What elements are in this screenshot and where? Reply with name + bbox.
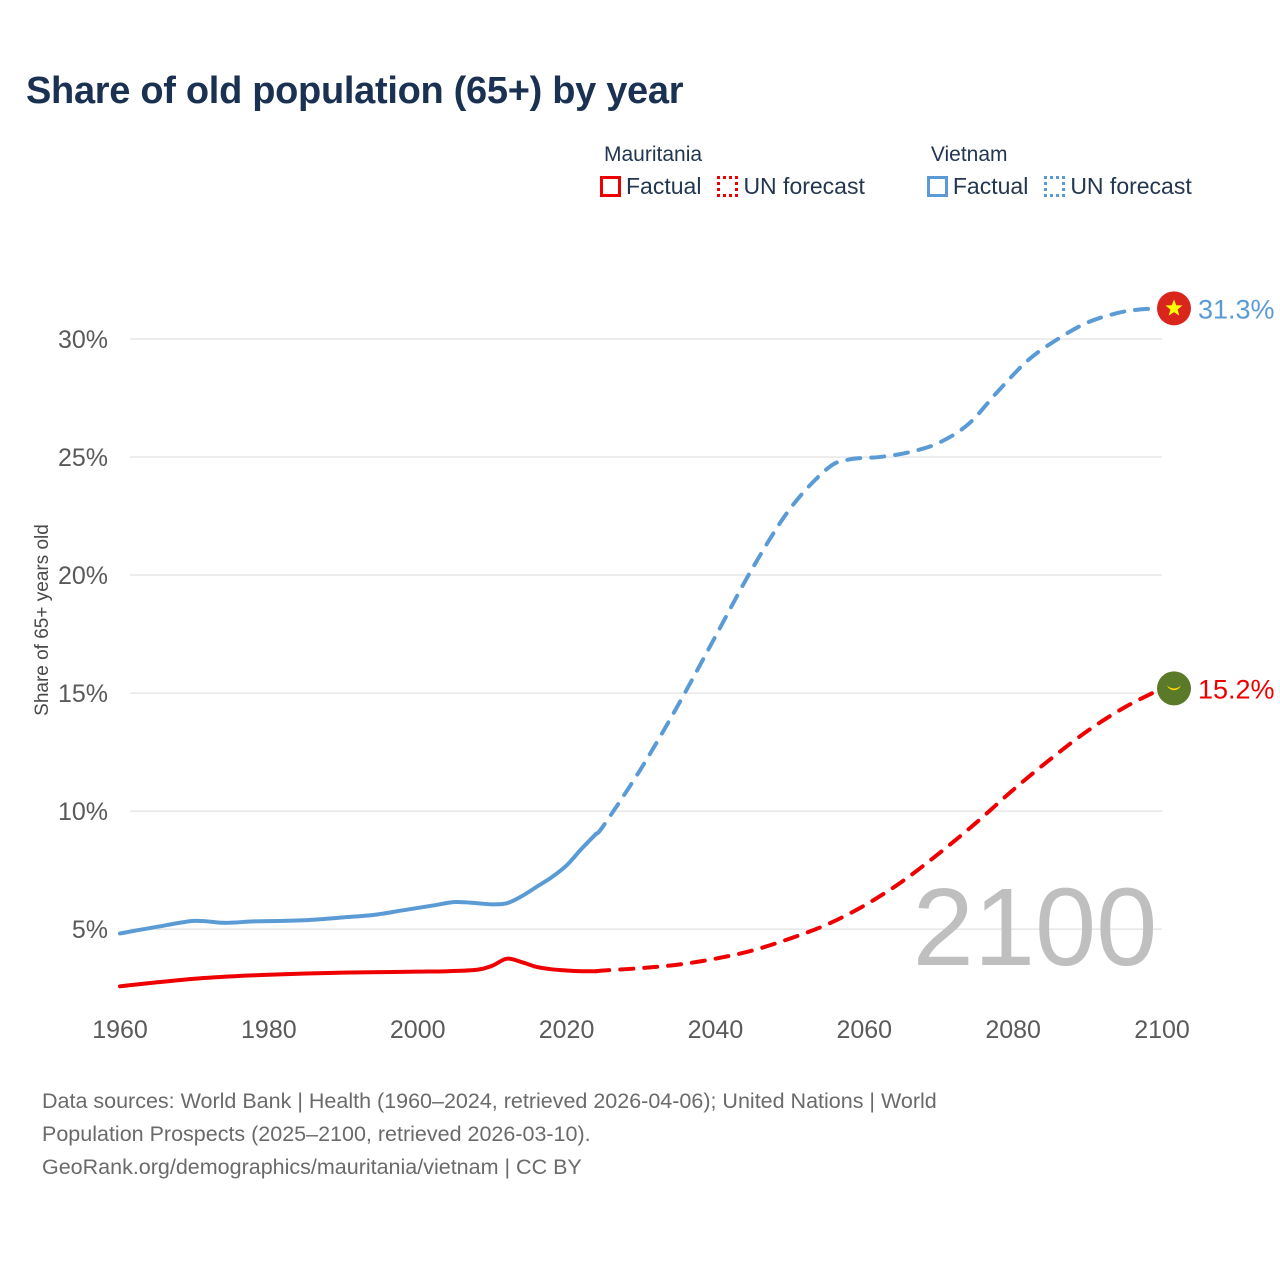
y-axis-tick-label: 5% bbox=[72, 916, 108, 944]
series-endpoints: 15.2%31.3% bbox=[1157, 291, 1275, 705]
footer-sources: Data sources: World Bank | Health (1960–… bbox=[42, 1085, 1222, 1184]
x-axis-tick-label: 1960 bbox=[92, 1016, 148, 1044]
x-axis-tick-label: 2000 bbox=[390, 1016, 446, 1044]
x-axis-tick-label: 1980 bbox=[241, 1016, 297, 1044]
x-axis-tick-label: 2020 bbox=[539, 1016, 595, 1044]
mauritania-flag-icon bbox=[1157, 671, 1191, 705]
endpoint-label-vietnam: 31.3% bbox=[1198, 294, 1275, 324]
y-axis-ticks: 5%10%15%20%25%30% bbox=[58, 326, 108, 944]
y-axis-tick-label: 25% bbox=[58, 444, 108, 472]
endpoint-marker-vietnam[interactable] bbox=[1157, 291, 1191, 325]
series-line-factual-vietnam bbox=[120, 834, 596, 934]
footer-line-1: Data sources: World Bank | Health (1960–… bbox=[42, 1085, 1222, 1118]
footer-line-2: Population Prospects (2025–2100, retriev… bbox=[42, 1118, 1222, 1151]
year-watermark: 2100 bbox=[913, 866, 1158, 989]
chart-page: Share of old population (65+) by year Ma… bbox=[0, 0, 1280, 1280]
endpoint-marker-mauritania[interactable] bbox=[1157, 671, 1191, 705]
footer-line-3: GeoRank.org/demographics/mauritania/viet… bbox=[42, 1151, 1222, 1184]
x-axis-tick-label: 2080 bbox=[985, 1016, 1041, 1044]
endpoint-label-mauritania: 15.2% bbox=[1198, 674, 1275, 704]
chart-svg: 5%10%15%20%25%30% 1960198020002020204020… bbox=[0, 0, 1280, 1060]
gridlines bbox=[130, 339, 1162, 929]
y-axis-title: Share of 65+ years old bbox=[32, 524, 53, 716]
x-axis-ticks: 19601980200020202040206020802100 bbox=[92, 1016, 1190, 1044]
y-axis-tick-label: 10% bbox=[58, 798, 108, 826]
x-axis-tick-label: 2040 bbox=[688, 1016, 744, 1044]
y-axis-tick-label: 15% bbox=[58, 680, 108, 708]
y-axis-tick-label: 20% bbox=[58, 562, 108, 590]
series-line-factual-mauritania bbox=[120, 959, 596, 987]
chart-plot-area: 5%10%15%20%25%30% 1960198020002020204020… bbox=[0, 0, 1280, 1060]
x-axis-tick-label: 2100 bbox=[1134, 1016, 1190, 1044]
series-line-forecast-vietnam bbox=[596, 308, 1162, 833]
x-axis-tick-label: 2060 bbox=[836, 1016, 892, 1044]
y-axis-tick-label: 30% bbox=[58, 326, 108, 354]
